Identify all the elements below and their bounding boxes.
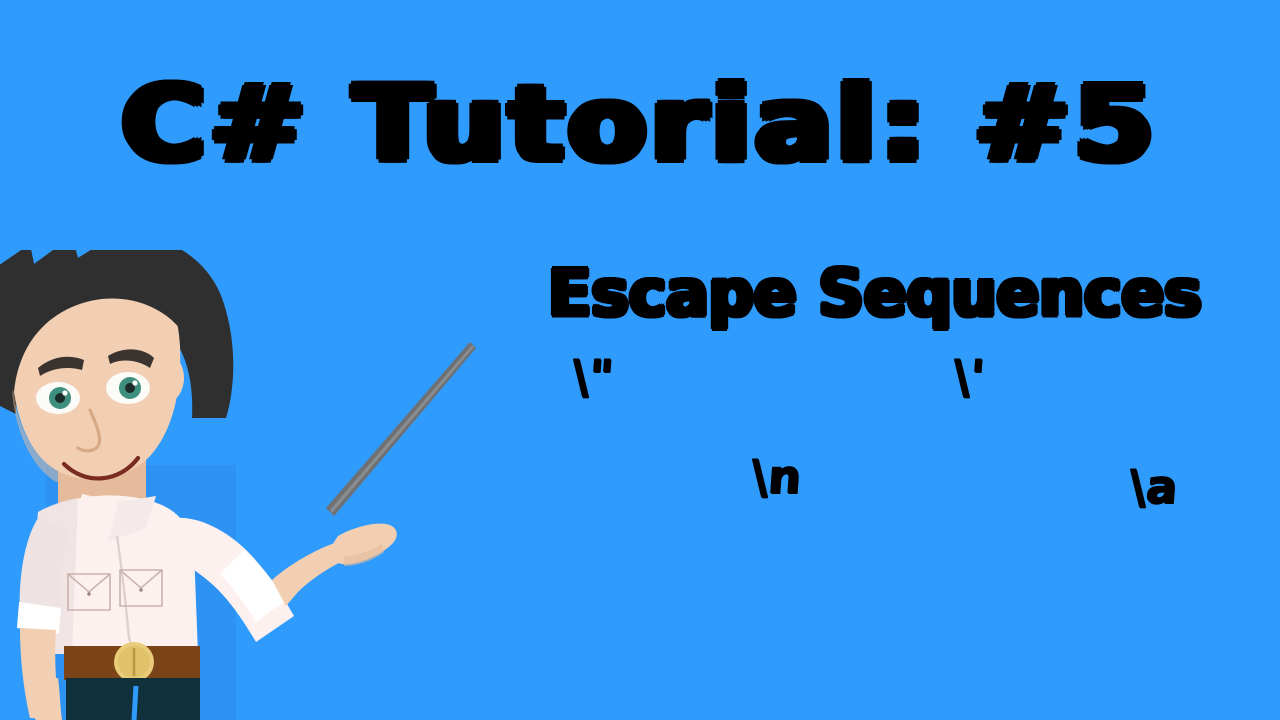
- pointer-stick-highlight: [330, 345, 474, 513]
- escape-newline-label: \n: [750, 452, 803, 502]
- escape-double-quote-label: \": [571, 352, 615, 402]
- escape-single-quote-label: \': [952, 352, 986, 402]
- hair-sideburn: [0, 342, 12, 412]
- eye-right-glint: [132, 380, 137, 385]
- presenter-illustration: [0, 250, 486, 720]
- presenter-svg: [0, 250, 486, 720]
- eye-left-glint: [62, 390, 67, 395]
- slide-subtitle: Escape Sequences: [523, 255, 1227, 333]
- trousers-inseam: [134, 686, 136, 720]
- shirt-pocket-left-stud: [87, 592, 91, 596]
- slide-title: C# Tutorial: #5: [0, 66, 1280, 183]
- escape-alert-label: \a: [1128, 462, 1179, 512]
- shirt-pocket-right-stud: [139, 588, 143, 592]
- slide-canvas: C# Tutorial: #5 Escape Sequences \" \' \…: [0, 0, 1280, 720]
